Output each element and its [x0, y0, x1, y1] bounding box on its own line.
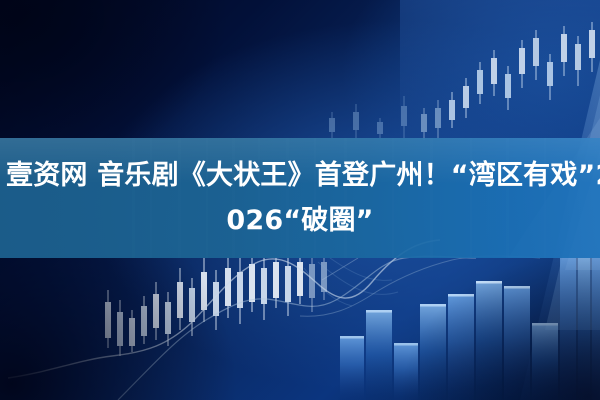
headline-line-2: 026“破圈” — [6, 198, 594, 243]
headline-text-block: 壹资网 音乐剧《大状王》首登广州！“湾区有戏”2 026“破圈” — [0, 138, 600, 258]
headline-line-1: 壹资网 音乐剧《大状王》首登广州！“湾区有戏”2 — [6, 153, 594, 198]
article-banner-image: 壹资网 音乐剧《大状王》首登广州！“湾区有戏”2 026“破圈” — [0, 0, 600, 400]
